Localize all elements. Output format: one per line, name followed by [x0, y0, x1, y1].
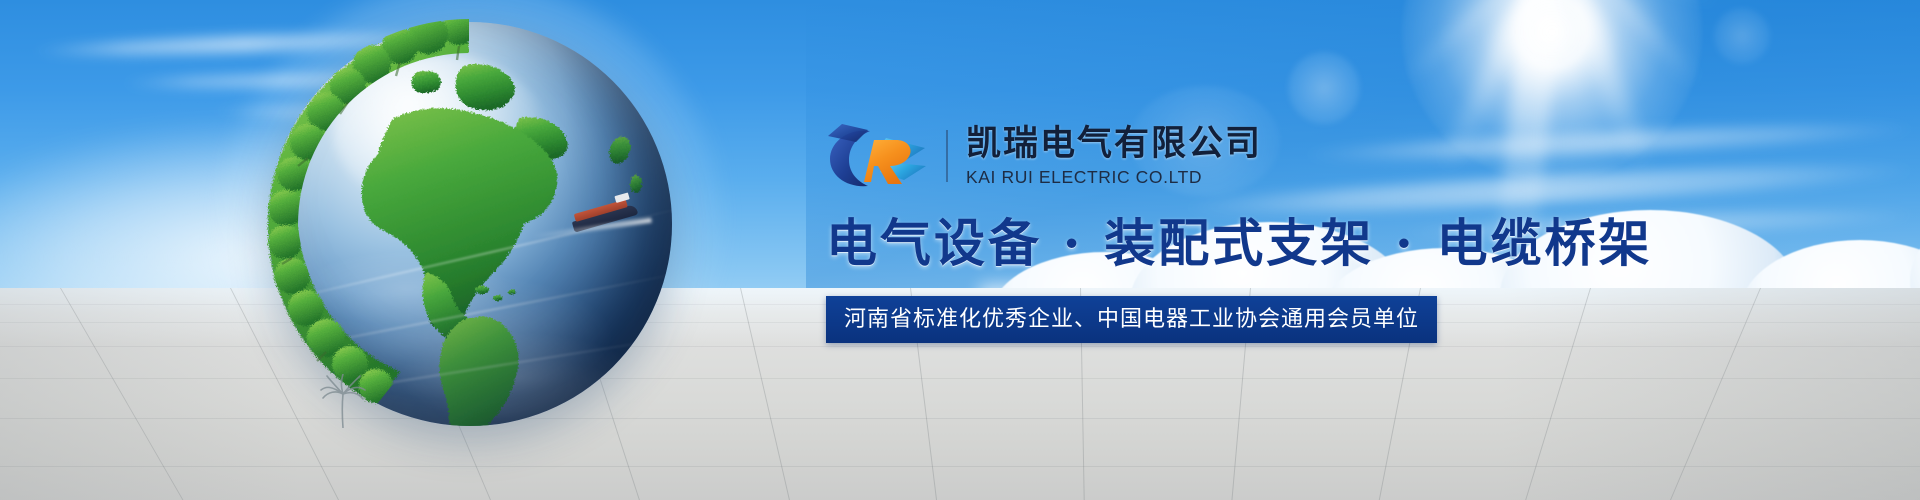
banner-slogan: 电气设备 · 装配式支架 · 电缆桥架: [826, 214, 1526, 274]
cr-monogram-logo-icon: [826, 122, 930, 190]
hero-banner: 凯瑞电气有限公司 KAI RUI ELECTRIC CO.LTD 电气设备 · …: [0, 0, 1920, 500]
palm-tree-icon: [318, 374, 368, 428]
company-name-en: KAI RUI ELECTRIC CO.LTD: [966, 168, 1262, 187]
banner-content: 凯瑞电气有限公司 KAI RUI ELECTRIC CO.LTD 电气设备 · …: [826, 118, 1526, 343]
brand-divider: [946, 130, 948, 182]
green-earth-globe: [268, 22, 672, 426]
brand-lockup[interactable]: 凯瑞电气有限公司 KAI RUI ELECTRIC CO.LTD: [826, 118, 1526, 194]
company-name-cn: 凯瑞电气有限公司: [966, 125, 1262, 164]
credentials-badge: 河南省标准化优秀企业、中国电器工业协会通用会员单位: [826, 296, 1437, 343]
